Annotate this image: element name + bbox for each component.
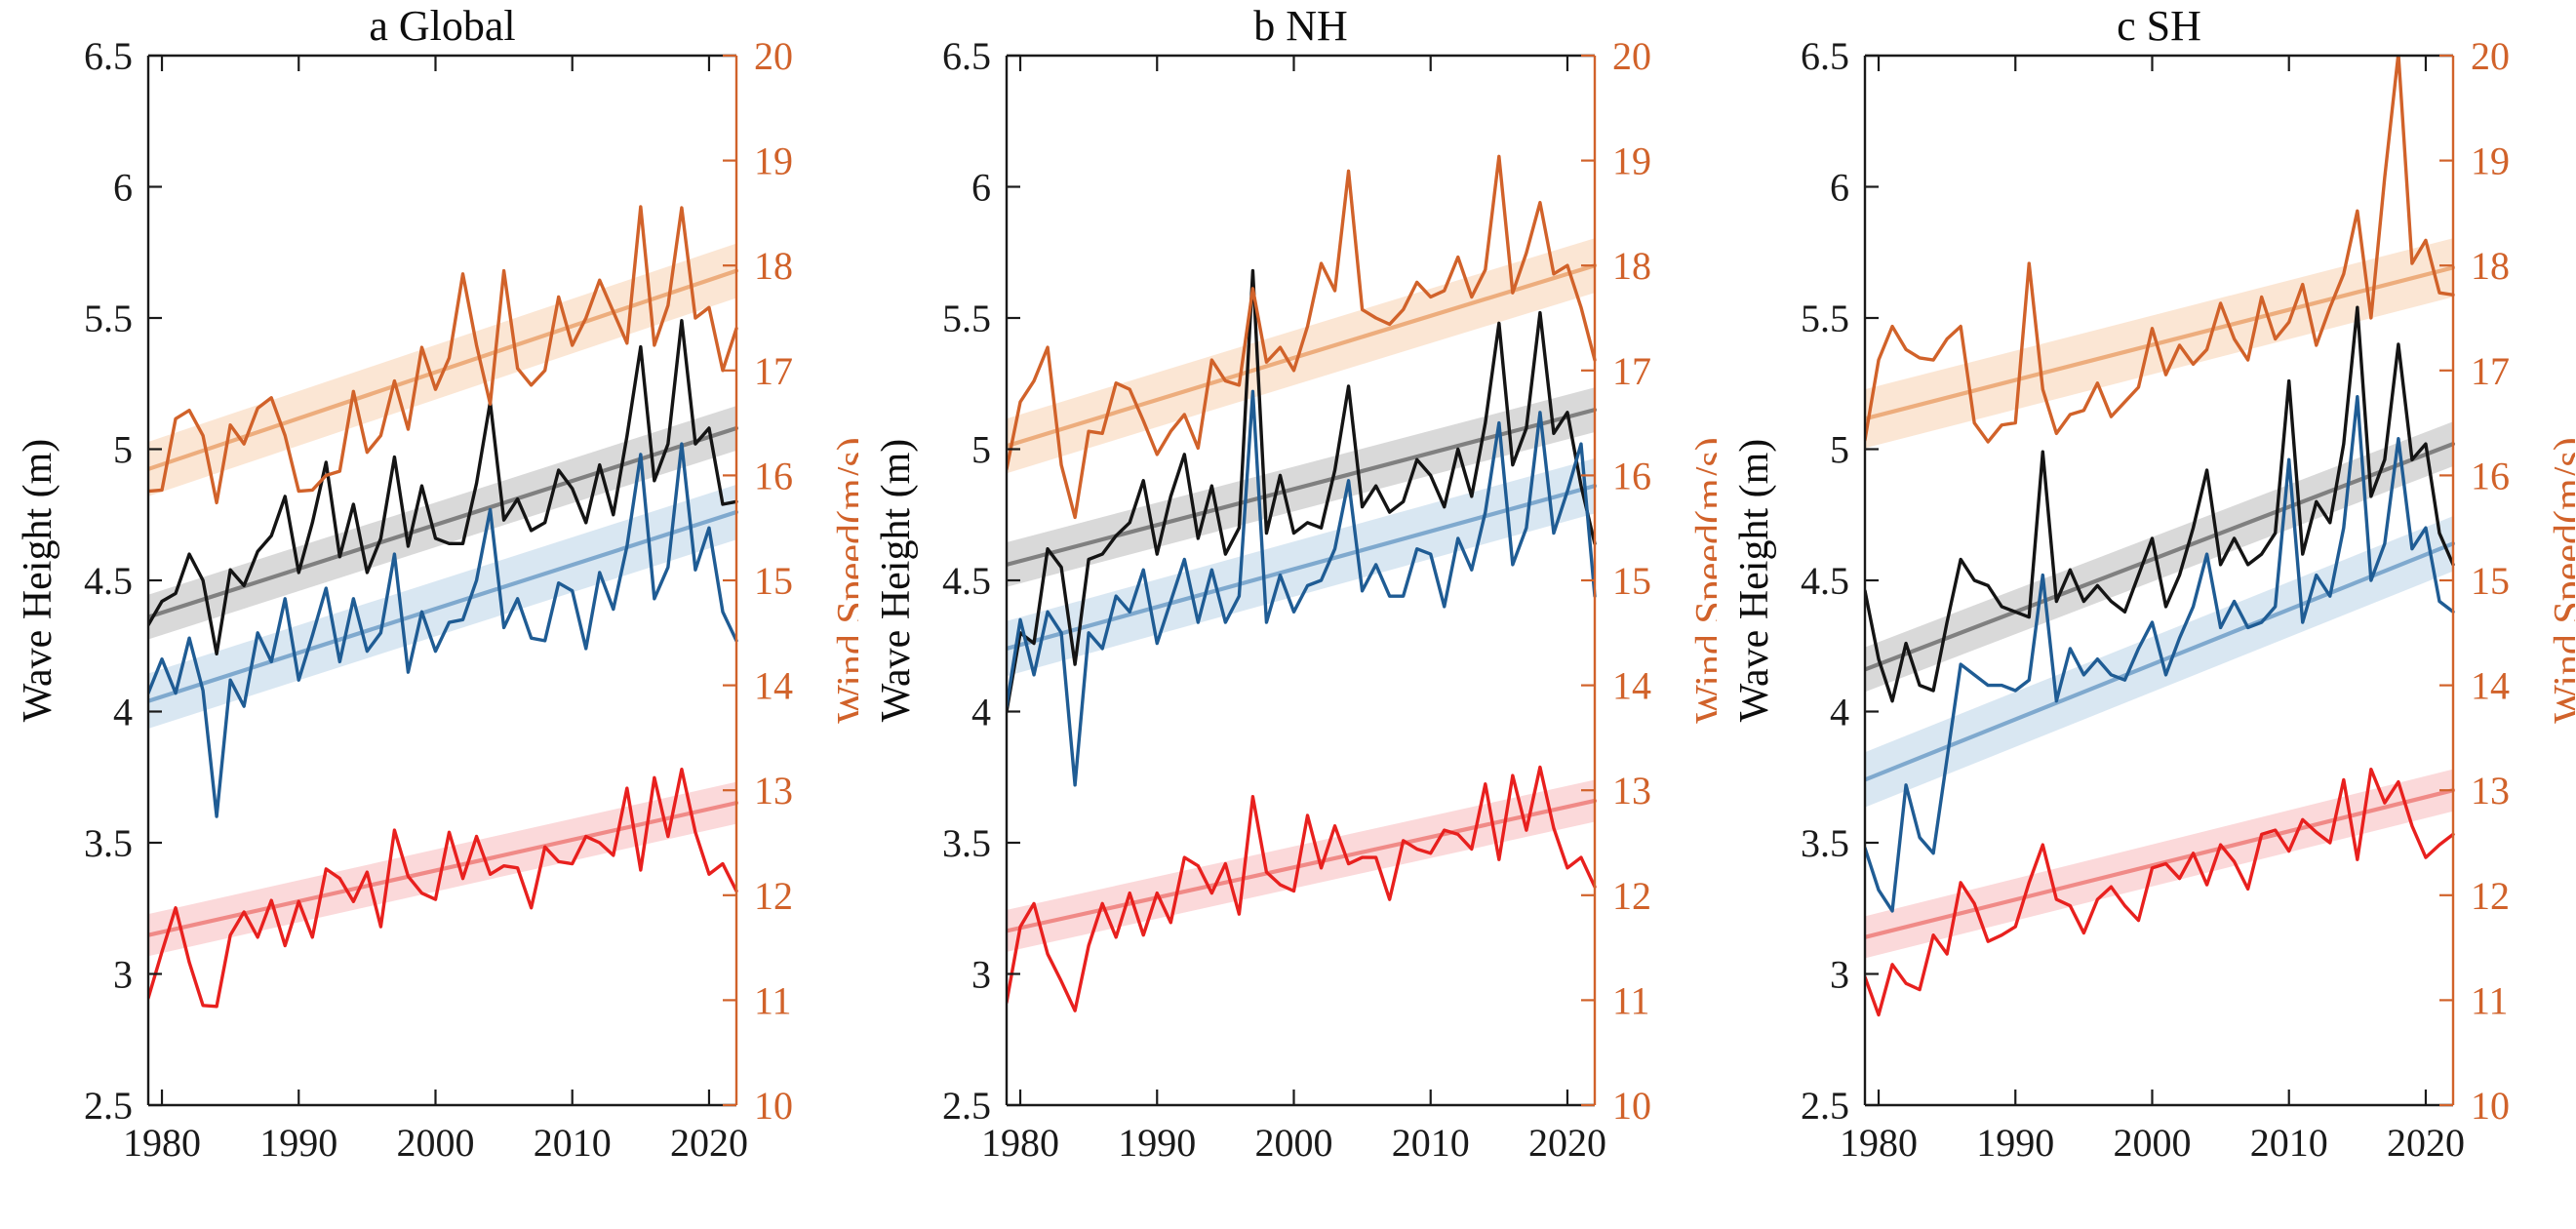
y-axis-right-ticklabel: 15 bbox=[754, 559, 793, 603]
y-axis-right-ticklabel: 13 bbox=[1612, 769, 1651, 813]
x-axis-ticklabel: 2000 bbox=[1254, 1121, 1332, 1165]
y-axis-right-label: Wind Speed(m/s) bbox=[830, 437, 858, 723]
y-axis-right-ticklabel: 11 bbox=[754, 978, 792, 1022]
y-axis-left-ticklabel: 3.5 bbox=[84, 821, 133, 865]
panel-c: 2.533.544.555.566.5101112131415161718192… bbox=[1717, 0, 2575, 1229]
y-axis-right-ticklabel: 15 bbox=[2471, 559, 2510, 603]
y-axis-left-ticklabel: 6.5 bbox=[84, 34, 133, 78]
series-wave-height-red bbox=[1865, 770, 2453, 1015]
y-axis-right-ticklabel: 12 bbox=[754, 874, 793, 918]
y-axis-left-ticklabel: 3.5 bbox=[1801, 821, 1849, 865]
x-axis-ticklabel: 2010 bbox=[534, 1121, 612, 1165]
x-axis-ticklabel: 2010 bbox=[1392, 1121, 1470, 1165]
y-axis-right-ticklabel: 16 bbox=[754, 454, 793, 497]
y-axis-right-ticklabel: 14 bbox=[2471, 664, 2510, 708]
y-axis-right-ticklabel: 10 bbox=[1612, 1084, 1651, 1128]
y-axis-left-ticklabel: 4.5 bbox=[942, 559, 991, 603]
y-axis-right-ticklabel: 18 bbox=[754, 244, 793, 288]
y-axis-right-ticklabel: 19 bbox=[1612, 139, 1651, 183]
y-axis-right-ticklabel: 13 bbox=[754, 769, 793, 813]
y-axis-left-ticklabel: 3.5 bbox=[942, 821, 991, 865]
y-axis-right-ticklabel: 11 bbox=[2471, 978, 2509, 1022]
y-axis-right-ticklabel: 15 bbox=[1612, 559, 1651, 603]
y-axis-left-ticklabel: 6 bbox=[1830, 166, 1849, 210]
panel-title-b: b NH bbox=[1253, 2, 1348, 50]
y-axis-right-ticklabel: 10 bbox=[2471, 1084, 2510, 1128]
panel-title-a: a Global bbox=[369, 2, 515, 50]
y-axis-right-ticklabel: 10 bbox=[754, 1084, 793, 1128]
x-axis-ticklabel: 1980 bbox=[123, 1121, 201, 1165]
y-axis-left-label: Wave Height (m) bbox=[874, 439, 919, 723]
y-axis-left-ticklabel: 5 bbox=[971, 428, 991, 472]
x-axis-ticklabel: 2020 bbox=[2387, 1121, 2465, 1165]
y-axis-right-ticklabel: 12 bbox=[1612, 874, 1651, 918]
y-axis-right-ticklabel: 13 bbox=[2471, 769, 2510, 813]
y-axis-left-ticklabel: 5.5 bbox=[1801, 297, 1849, 340]
y-axis-right-ticklabel: 17 bbox=[1612, 349, 1651, 393]
y-axis-left-label: Wave Height (m) bbox=[16, 439, 60, 723]
y-axis-left-ticklabel: 4 bbox=[1830, 691, 1849, 734]
panel-a: 2.533.544.555.566.5101112131415161718192… bbox=[0, 0, 858, 1229]
y-axis-left-ticklabel: 5.5 bbox=[84, 297, 133, 340]
y-axis-left-ticklabel: 3 bbox=[971, 953, 991, 997]
x-axis-ticklabel: 1990 bbox=[259, 1121, 337, 1165]
y-axis-right-ticklabel: 12 bbox=[2471, 874, 2510, 918]
x-axis-ticklabel: 1980 bbox=[981, 1121, 1059, 1165]
y-axis-left-ticklabel: 6.5 bbox=[942, 34, 991, 78]
y-axis-right-ticklabel: 17 bbox=[2471, 349, 2510, 393]
y-axis-left-ticklabel: 5.5 bbox=[942, 297, 991, 340]
y-axis-right-ticklabel: 20 bbox=[2471, 34, 2510, 78]
y-axis-right-ticklabel: 14 bbox=[1612, 664, 1651, 708]
y-axis-left-ticklabel: 3 bbox=[113, 953, 133, 997]
x-axis-ticklabel: 1980 bbox=[1840, 1121, 1918, 1165]
y-axis-right-label: Wind Speed(m/s) bbox=[1688, 437, 1717, 723]
y-axis-left-ticklabel: 6 bbox=[113, 166, 133, 210]
y-axis-right-ticklabel: 19 bbox=[754, 139, 793, 183]
x-axis-ticklabel: 1990 bbox=[1976, 1121, 2054, 1165]
x-axis-ticklabel: 2020 bbox=[670, 1121, 748, 1165]
x-axis-ticklabel: 1990 bbox=[1118, 1121, 1196, 1165]
y-axis-right-ticklabel: 17 bbox=[754, 349, 793, 393]
y-axis-right-ticklabel: 18 bbox=[1612, 244, 1651, 288]
x-axis-ticklabel: 2000 bbox=[396, 1121, 474, 1165]
y-axis-left-ticklabel: 6 bbox=[971, 166, 991, 210]
y-axis-right-ticklabel: 14 bbox=[754, 664, 793, 708]
x-axis-ticklabel: 2000 bbox=[2113, 1121, 2191, 1165]
y-axis-right-ticklabel: 16 bbox=[1612, 454, 1651, 497]
y-axis-right-ticklabel: 20 bbox=[754, 34, 793, 78]
y-axis-right-ticklabel: 20 bbox=[1612, 34, 1651, 78]
y-axis-left-ticklabel: 4 bbox=[113, 691, 133, 734]
y-axis-left-ticklabel: 4.5 bbox=[1801, 559, 1849, 603]
y-axis-left-ticklabel: 3 bbox=[1830, 953, 1849, 997]
y-axis-right-ticklabel: 11 bbox=[1612, 978, 1650, 1022]
x-axis-ticklabel: 2020 bbox=[1528, 1121, 1606, 1165]
x-axis-ticklabel: 2010 bbox=[2250, 1121, 2328, 1165]
y-axis-right-label: Wind Speed(m/s) bbox=[2547, 437, 2575, 723]
panel-title-c: c SH bbox=[2117, 2, 2201, 50]
y-axis-left-ticklabel: 6.5 bbox=[1801, 34, 1849, 78]
series-wave-height-red bbox=[1007, 768, 1595, 1011]
y-axis-left-ticklabel: 4.5 bbox=[84, 559, 133, 603]
figure-canvas: 2.533.544.555.566.5101112131415161718192… bbox=[0, 0, 2576, 1229]
y-axis-left-ticklabel: 5 bbox=[1830, 428, 1849, 472]
y-axis-left-ticklabel: 5 bbox=[113, 428, 133, 472]
y-axis-right-ticklabel: 16 bbox=[2471, 454, 2510, 497]
y-axis-right-ticklabel: 18 bbox=[2471, 244, 2510, 288]
y-axis-right-ticklabel: 19 bbox=[2471, 139, 2510, 183]
panel-b: 2.533.544.555.566.5101112131415161718192… bbox=[858, 0, 1717, 1229]
y-axis-left-ticklabel: 4 bbox=[971, 691, 991, 734]
y-axis-left-label: Wave Height (m) bbox=[1732, 439, 1777, 723]
